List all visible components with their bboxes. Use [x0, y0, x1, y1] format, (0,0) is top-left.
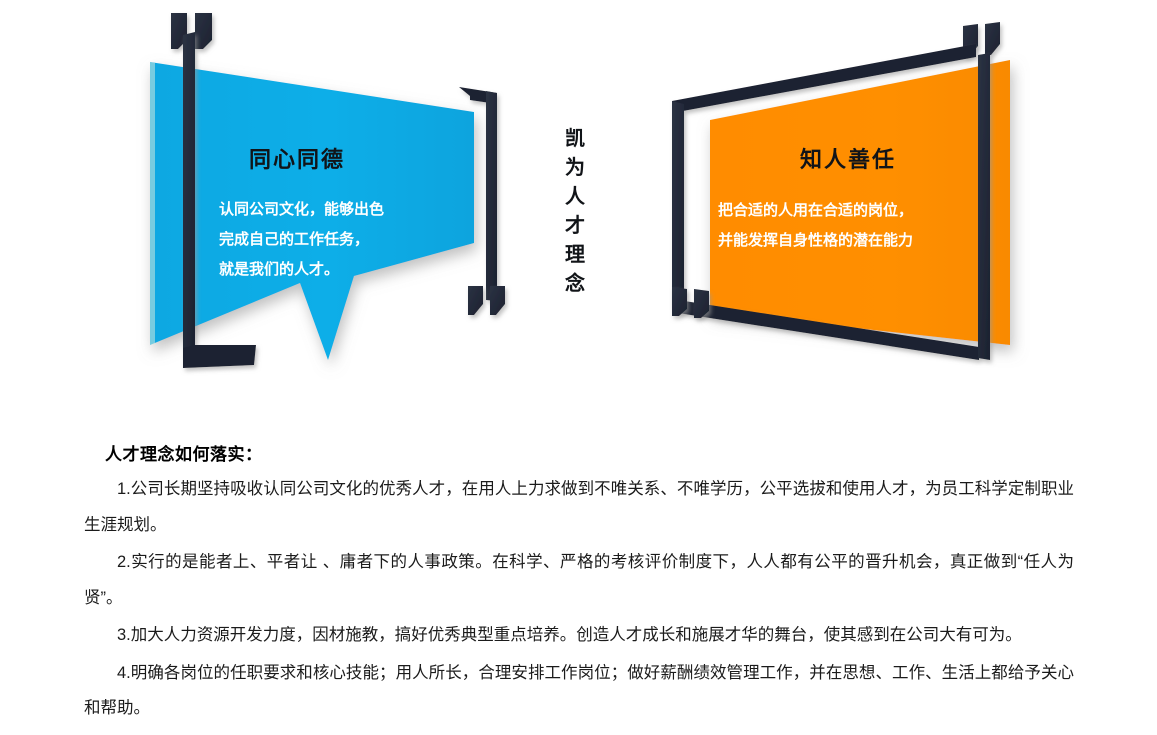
- blue-card-body: 认同公司文化，能够出色 完成自己的工作任务， 就是我们的人才。: [219, 195, 384, 285]
- orange-card-body: 把合适的人用在合适的岗位， 并能发挥自身性格的潜在能力: [718, 196, 913, 256]
- center-vertical-label: 凯 为 人 才 理 念: [560, 125, 590, 299]
- orange-card-group: [672, 22, 1010, 360]
- article-paragraph: 1.公司长期坚持吸收认同公司文化的优秀人才，在用人上力求做到不唯关系、不唯学历，…: [84, 472, 1074, 543]
- orange-card-heading: 知人善任: [800, 142, 896, 174]
- article-paragraphs: 1.公司长期坚持吸收认同公司文化的优秀人才，在用人上力求做到不唯关系、不唯学历，…: [84, 472, 1074, 729]
- blue-card-body-line: 认同公司文化，能够出色: [219, 195, 384, 225]
- blue-card-body-line: 就是我们的人才。: [219, 255, 384, 285]
- center-label-char: 人: [560, 183, 590, 212]
- center-label-char: 为: [560, 154, 590, 183]
- blue-card-body-line: 完成自己的工作任务，: [219, 225, 384, 255]
- concept-graphic: 同心同德 认同公司文化，能够出色 完成自己的工作任务， 就是我们的人才。 知人善…: [0, 0, 1157, 430]
- article-paragraph: 4.明确各岗位的任职要求和核心技能；用人所长，合理安排工作岗位；做好薪酬绩效管理…: [84, 656, 1074, 727]
- orange-card-body-line: 把合适的人用在合适的岗位，: [718, 196, 913, 226]
- article-paragraph: 2.实行的是能者上、平者让 、庸者下的人事政策。在科学、严格的考核评价制度下，人…: [84, 545, 1074, 616]
- center-label-char: 才: [560, 212, 590, 241]
- blue-card-heading: 同心同德: [249, 142, 345, 174]
- center-label-char: 凯: [560, 125, 590, 154]
- blue-card-left-highlight: [150, 62, 155, 345]
- center-label-char: 理: [560, 241, 590, 270]
- article-title: 人才理念如何落实：: [105, 440, 263, 465]
- article-paragraph: 3.加大人力资源开发力度，因材施教，搞好优秀典型重点培养。创造人才成长和施展才华…: [84, 618, 1074, 654]
- blue-card-group: [150, 13, 505, 368]
- center-label-char: 念: [560, 270, 590, 299]
- orange-card-body-line: 并能发挥自身性格的潜在能力: [718, 226, 913, 256]
